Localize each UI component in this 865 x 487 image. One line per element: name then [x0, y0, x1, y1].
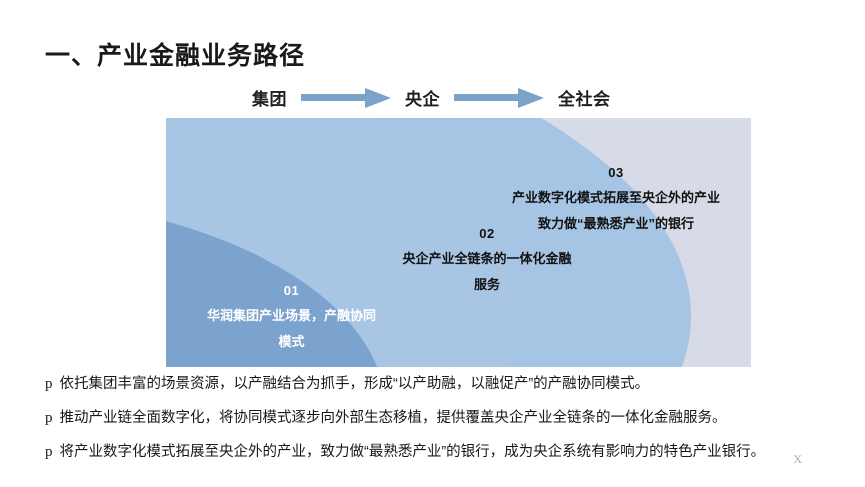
flow-step-group: 集团 [252, 85, 287, 110]
zone-02-line1: 央企产业全链条的一体化金融 [361, 246, 613, 271]
page-title: 一、产业金融业务路径 [45, 36, 305, 72]
list-item: p 依托集团丰富的场景资源，以产融结合为抓手，形成“以产助融，以融促产”的产融协… [45, 372, 835, 393]
process-flow: 集团 央企 全社会 [252, 85, 611, 110]
bullet-list: p 依托集团丰富的场景资源，以产融结合为抓手，形成“以产助融，以融促产”的产融协… [45, 372, 835, 474]
flow-step-soe: 央企 [405, 85, 440, 110]
flow-step-society: 全社会 [558, 85, 611, 110]
concentric-arc-diagram: 03 产业数字化模式拓展至央企外的产业 致力做“最熟悉产业”的银行 02 央企产… [166, 118, 751, 367]
watermark: X [793, 452, 802, 467]
bullet-text: 推动产业链全面数字化，将协同模式逐步向外部生态移植，提供覆盖央企产业全链条的一体… [60, 406, 727, 427]
zone-03-number: 03 [491, 160, 741, 185]
zone-01-label: 01 华润集团产业场景，产融协同 模式 [184, 278, 399, 354]
arrow-right-icon [301, 91, 391, 105]
zone-01-line2: 模式 [184, 329, 399, 354]
zone-01-number: 01 [184, 278, 399, 303]
bullet-marker: p [45, 410, 53, 427]
bullet-text: 将产业数字化模式拓展至央企外的产业，致力做“最熟悉产业”的银行，成为央企系统有影… [60, 440, 766, 461]
arrow-right-icon-2 [454, 91, 544, 105]
bullet-marker: p [45, 376, 53, 393]
list-item: p 推动产业链全面数字化，将协同模式逐步向外部生态移植，提供覆盖央企产业全链条的… [45, 406, 835, 427]
arrow-head [365, 88, 391, 108]
bullet-marker: p [45, 444, 53, 461]
bullet-text: 依托集团丰富的场景资源，以产融结合为抓手，形成“以产助融，以融促产”的产融协同模… [60, 372, 650, 393]
zone-03-line1: 产业数字化模式拓展至央企外的产业 [491, 185, 741, 210]
arrow-shaft [301, 94, 365, 101]
zone-01-line1: 华润集团产业场景，产融协同 [184, 303, 399, 328]
arrow-head [518, 88, 544, 108]
zone-02-number: 02 [361, 221, 613, 246]
arrow-shaft [454, 94, 518, 101]
list-item: p 将产业数字化模式拓展至央企外的产业，致力做“最熟悉产业”的银行，成为央企系统… [45, 440, 835, 461]
